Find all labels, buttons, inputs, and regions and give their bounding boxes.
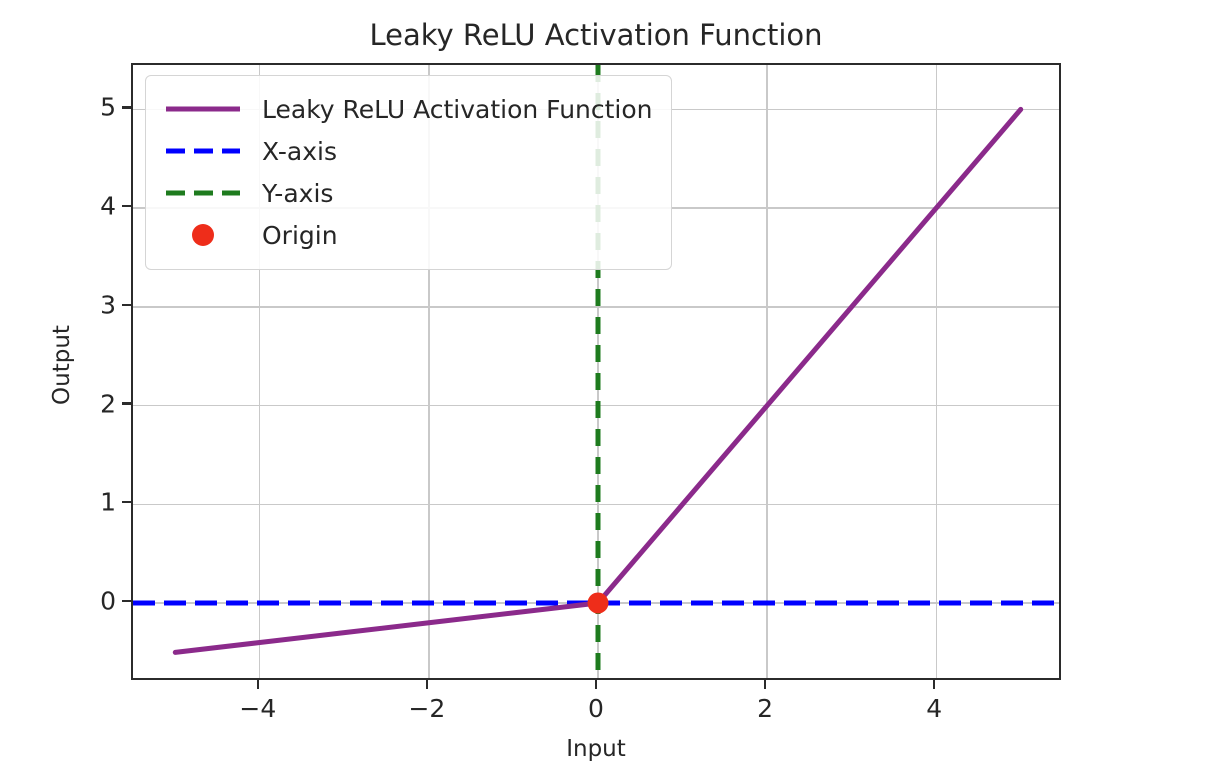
y-axis-label: Output [49,270,75,460]
solid-line-icon [166,107,240,112]
legend-dashed-line-icon [160,183,246,203]
origin-dot-icon [192,224,214,246]
legend-item-label: Origin [262,223,338,248]
dashed-line-icon [166,191,240,196]
legend-item[interactable]: Leaky ReLU Activation Function [160,88,657,130]
legend-dot-icon [160,225,246,245]
y-tick-mark [122,106,131,108]
dashed-line-icon [166,149,240,154]
legend-item-label: Leaky ReLU Activation Function [262,97,653,122]
y-tick-mark [122,501,131,503]
legend-item[interactable]: X-axis [160,130,657,172]
x-tick-mark [595,680,597,689]
y-tick-mark [122,402,131,404]
x-tick-mark [933,680,935,689]
y-tick-label: 2 [100,389,116,418]
x-axis-label: Input [131,736,1061,762]
matplotlib-figure: Leaky ReLU Activation Function −4−2024 0… [0,0,1206,784]
legend-item-label: X-axis [262,139,337,164]
y-tick-label: 4 [100,192,116,221]
y-tick-label: 1 [100,488,116,517]
legend-solid-line-icon [160,99,246,119]
y-tick-label: 3 [100,290,116,319]
y-tick-label: 5 [100,93,116,122]
chart-legend: Leaky ReLU Activation FunctionX-axisY-ax… [145,75,672,270]
chart-title: Leaky ReLU Activation Function [131,18,1061,52]
x-tick-label: 2 [757,694,773,723]
y-tick-mark [122,600,131,602]
x-tick-label: −4 [239,694,276,723]
legend-item[interactable]: Origin [160,214,657,256]
x-tick-mark [426,680,428,689]
legend-item[interactable]: Y-axis [160,172,657,214]
x-tick-label: 0 [588,694,604,723]
origin-marker [588,593,609,614]
x-tick-label: 4 [926,694,942,723]
x-tick-label: −2 [408,694,445,723]
x-tick-mark [764,680,766,689]
y-tick-label: 0 [100,587,116,616]
legend-item-label: Y-axis [262,181,333,206]
legend-dashed-line-icon [160,141,246,161]
y-tick-mark [122,304,131,306]
x-tick-mark [257,680,259,689]
y-tick-mark [122,205,131,207]
